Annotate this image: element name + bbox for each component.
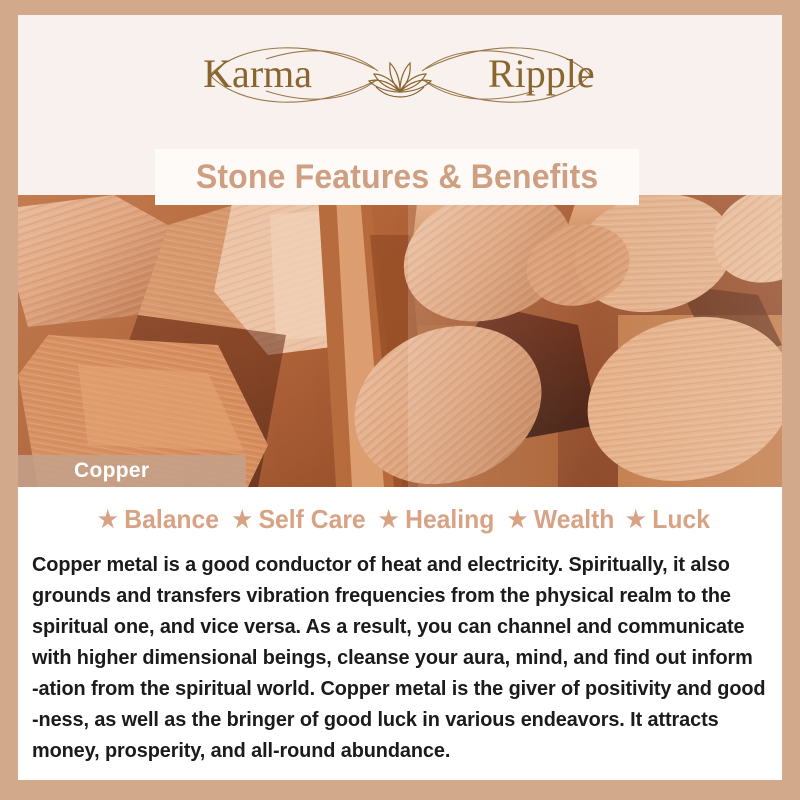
brand-logo: Karma Ripple — [170, 29, 630, 121]
copper-photo-artwork — [18, 195, 782, 487]
lotus-icon — [369, 63, 431, 97]
section-title-band: Stone Features & Benefits — [155, 149, 639, 205]
keyword-self-care: ★ Self Care — [226, 506, 366, 532]
content-card: Karma Ripple Stone Features & Benefits — [18, 15, 782, 780]
brand-name-right: Ripple — [488, 51, 595, 96]
description-line: Copper metal is a good conductor of heat… — [32, 549, 746, 580]
description-line: -ation from the spiritual world. Copper … — [32, 673, 746, 704]
brand-name-left: Karma — [203, 51, 312, 96]
keyword-label: Self Care — [258, 506, 365, 532]
description-line: with higher dimensional beings, cleanse … — [32, 642, 746, 673]
star-icon: ★ — [626, 508, 646, 531]
keyword-label: Luck — [652, 506, 710, 532]
description-line: money, prosperity, and all-round abundan… — [32, 735, 746, 766]
description-line: grounds and transfers vibration frequenc… — [32, 580, 746, 611]
description-line: -ness, as well as the bringer of good lu… — [32, 704, 746, 735]
keyword-wealth: ★ Wealth — [501, 506, 614, 532]
page-title: Stone Features & Benefits — [196, 158, 599, 197]
description-line: spiritual one, and vice versa. As a resu… — [32, 611, 746, 642]
brand-header: Karma Ripple — [18, 15, 782, 137]
brand-logo-artwork: Karma Ripple — [170, 29, 630, 121]
copper-bars-photo — [18, 195, 782, 487]
keyword-luck: ★ Luck — [620, 506, 711, 532]
description-text: Copper metal is a good conductor of heat… — [32, 549, 768, 766]
star-icon: ★ — [98, 508, 118, 531]
keyword-row: ★ Balance ★ Self Care ★ Healing ★ Wealth… — [18, 487, 782, 543]
infographic-page: Karma Ripple Stone Features & Benefits — [0, 0, 800, 800]
keyword-label: Balance — [124, 506, 219, 532]
star-icon: ★ — [379, 508, 399, 531]
keyword-label: Healing — [405, 506, 494, 532]
description-panel: ★ Balance ★ Self Care ★ Healing ★ Wealth… — [18, 487, 782, 780]
photo-caption-label: Copper — [74, 459, 149, 483]
keyword-balance: ★ Balance — [91, 506, 219, 532]
keyword-healing: ★ Healing — [372, 506, 494, 532]
star-icon: ★ — [507, 508, 527, 531]
photo-caption-bar: Copper — [18, 455, 246, 487]
keyword-label: Wealth — [534, 506, 615, 532]
star-icon: ★ — [232, 508, 252, 531]
